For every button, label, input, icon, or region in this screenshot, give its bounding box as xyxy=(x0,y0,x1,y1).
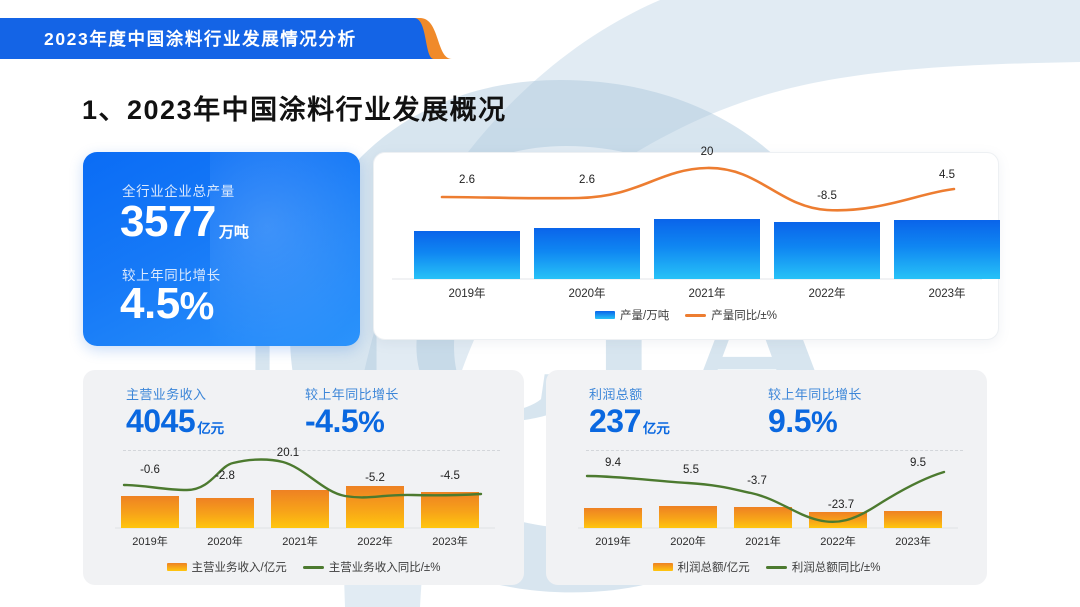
point-label-2020: 5.5 xyxy=(683,464,699,476)
slide-canvas: 2023年度中国涂料行业发展情况分析 1、2023年中国涂料行业发展概况 全行业… xyxy=(0,0,1080,607)
bar-2019 xyxy=(414,231,520,279)
profit-kpi-total: 利润总额 237 亿元 xyxy=(589,384,670,439)
output-chart-legend: 产量/万吨 产量同比/±% xyxy=(374,307,998,323)
profit-kpi-total-value: 237 亿元 xyxy=(589,405,670,439)
bar-2020 xyxy=(659,506,717,528)
point-label-2023: 9.5 xyxy=(910,457,926,469)
revenue-kpi-yoy-value: -4.5 % xyxy=(305,405,399,439)
legend-label-output-bar: 产量/万吨 xyxy=(620,307,669,323)
revenue-chart-plot: -0.6 -2.8 20.1 -5.2 -4.5 2019年 2020年 202… xyxy=(83,454,524,554)
point-label-2023: 4.5 xyxy=(939,169,955,181)
legend-item-profit-bar: 利润总额/亿元 xyxy=(653,559,750,575)
xtick-2019: 2019年 xyxy=(448,286,485,300)
revenue-total-unit: 亿元 xyxy=(197,422,224,439)
output-yoy-trendline xyxy=(442,168,954,210)
legend-item-revenue-bar: 主营业务收入/亿元 xyxy=(167,559,287,575)
revenue-card: 主营业务收入 4045 亿元 较上年同比增长 -4.5 % xyxy=(83,370,524,585)
header-ribbon: 2023年度中国涂料行业发展情况分析 xyxy=(0,18,452,59)
point-label-2021: 20.1 xyxy=(277,447,299,459)
ribbon-title: 2023年度中国涂料行业发展情况分析 xyxy=(44,18,357,59)
bar-2021 xyxy=(271,490,329,528)
point-label-2020: 2.6 xyxy=(579,174,595,186)
point-label-2022: -5.2 xyxy=(365,472,385,484)
bar-2023 xyxy=(421,492,479,528)
xtick-2022: 2022年 xyxy=(820,534,855,548)
profit-card: 利润总额 237 亿元 较上年同比增长 9.5 % xyxy=(546,370,987,585)
profit-yoy-number: 9.5 xyxy=(768,405,811,439)
bar-2021 xyxy=(734,507,792,528)
revenue-yoy-number: -4.5 xyxy=(305,405,358,439)
profit-kpi-yoy-value: 9.5 % xyxy=(768,405,862,439)
legend-item-output-bar: 产量/万吨 xyxy=(595,307,669,323)
profit-total-unit: 亿元 xyxy=(643,422,670,439)
revenue-kpi-yoy-label: 较上年同比增长 xyxy=(305,384,399,403)
xtick-2019: 2019年 xyxy=(132,534,167,548)
output-chart-card: 2.6 2.6 20 -8.5 4.5 2019年 2020年 2021年 20… xyxy=(373,152,999,340)
hero-value-yoy-growth: 4.5 % xyxy=(120,282,214,326)
bar-2022 xyxy=(346,486,404,528)
revenue-total-number: 4045 xyxy=(126,405,195,439)
profit-chart-plot: 9.4 5.5 -3.7 -23.7 9.5 2019年 2020年 2021年… xyxy=(546,454,987,554)
page-title: 1、2023年中国涂料行业发展概况 xyxy=(82,88,507,127)
point-label-2019: 2.6 xyxy=(459,174,475,186)
xtick-2022: 2022年 xyxy=(357,534,392,548)
bar-2020 xyxy=(196,498,254,528)
xtick-2020: 2020年 xyxy=(568,286,605,300)
hero-total-output-number: 3577 xyxy=(120,200,216,244)
legend-swatch-bar-icon xyxy=(595,311,615,319)
xtick-2023: 2023年 xyxy=(928,286,965,300)
hero-yoy-percent-sign: % xyxy=(180,287,215,326)
legend-swatch-bar-icon xyxy=(653,563,673,571)
bar-2023 xyxy=(894,220,1000,279)
legend-label-revenue-bar: 主营业务收入/亿元 xyxy=(192,559,287,575)
xtick-2023: 2023年 xyxy=(432,534,467,548)
legend-label-profit-line: 利润总额同比/±% xyxy=(792,559,881,575)
xtick-2022: 2022年 xyxy=(808,286,845,300)
bar-2019 xyxy=(121,496,179,528)
legend-swatch-line-icon xyxy=(685,314,706,317)
point-label-2023: -4.5 xyxy=(440,470,460,482)
hero-total-output-unit: 万吨 xyxy=(219,225,249,244)
xtick-2019: 2019年 xyxy=(595,534,630,548)
xtick-2021: 2021年 xyxy=(282,534,317,548)
revenue-yoy-percent-sign: % xyxy=(358,407,385,439)
bar-2020 xyxy=(534,228,640,279)
xtick-2020: 2020年 xyxy=(207,534,242,548)
point-label-2022: -8.5 xyxy=(817,190,837,202)
profit-kpi-yoy: 较上年同比增长 9.5 % xyxy=(768,384,862,439)
point-label-2022: -23.7 xyxy=(828,499,854,511)
output-chart-plot: 2.6 2.6 20 -8.5 4.5 2019年 2020年 2021年 20… xyxy=(374,163,1000,301)
legend-label-profit-bar: 利润总额/亿元 xyxy=(678,559,750,575)
legend-swatch-bar-icon xyxy=(167,563,187,571)
bar-2021 xyxy=(654,219,760,279)
revenue-kpi-row: 主营业务收入 4045 亿元 较上年同比增长 -4.5 % xyxy=(83,384,524,456)
profit-kpi-row: 利润总额 237 亿元 较上年同比增长 9.5 % xyxy=(546,384,987,456)
legend-label-output-line: 产量同比/±% xyxy=(711,307,777,323)
total-output-hero-card: 全行业企业总产量 3577 万吨 较上年同比增长 4.5 % xyxy=(83,152,360,346)
profit-kpi-yoy-label: 较上年同比增长 xyxy=(768,384,862,403)
point-label-2019: -0.6 xyxy=(140,464,160,476)
revenue-kpi-total: 主营业务收入 4045 亿元 xyxy=(126,384,224,439)
legend-swatch-line-icon xyxy=(766,566,787,569)
revenue-kpi-total-label: 主营业务收入 xyxy=(126,384,224,403)
revenue-chart-legend: 主营业务收入/亿元 主营业务收入同比/±% xyxy=(83,559,524,575)
point-label-2021: -3.7 xyxy=(747,475,767,487)
xtick-2021: 2021年 xyxy=(688,286,725,300)
revenue-kpi-total-value: 4045 亿元 xyxy=(126,405,224,439)
hero-value-total-output: 3577 万吨 xyxy=(120,200,249,244)
hero-yoy-number: 4.5 xyxy=(120,282,180,326)
xtick-2021: 2021年 xyxy=(745,534,780,548)
profit-yoy-percent-sign: % xyxy=(811,407,838,439)
legend-label-revenue-line: 主营业务收入同比/±% xyxy=(329,559,441,575)
point-label-2019: 9.4 xyxy=(605,457,622,469)
xtick-2023: 2023年 xyxy=(895,534,930,548)
revenue-kpi-yoy: 较上年同比增长 -4.5 % xyxy=(305,384,399,439)
point-label-2020: -2.8 xyxy=(215,470,235,482)
bar-2022 xyxy=(774,222,880,279)
profit-total-number: 237 xyxy=(589,405,641,439)
bar-2019 xyxy=(584,508,642,528)
profit-chart-legend: 利润总额/亿元 利润总额同比/±% xyxy=(546,559,987,575)
xtick-2020: 2020年 xyxy=(670,534,705,548)
legend-item-profit-line: 利润总额同比/±% xyxy=(766,559,881,575)
point-label-2021: 20 xyxy=(701,146,714,158)
legend-item-output-line: 产量同比/±% xyxy=(685,307,777,323)
bar-2023 xyxy=(884,511,942,528)
legend-item-revenue-line: 主营业务收入同比/±% xyxy=(303,559,441,575)
profit-kpi-total-label: 利润总额 xyxy=(589,384,670,403)
legend-swatch-line-icon xyxy=(303,566,324,569)
